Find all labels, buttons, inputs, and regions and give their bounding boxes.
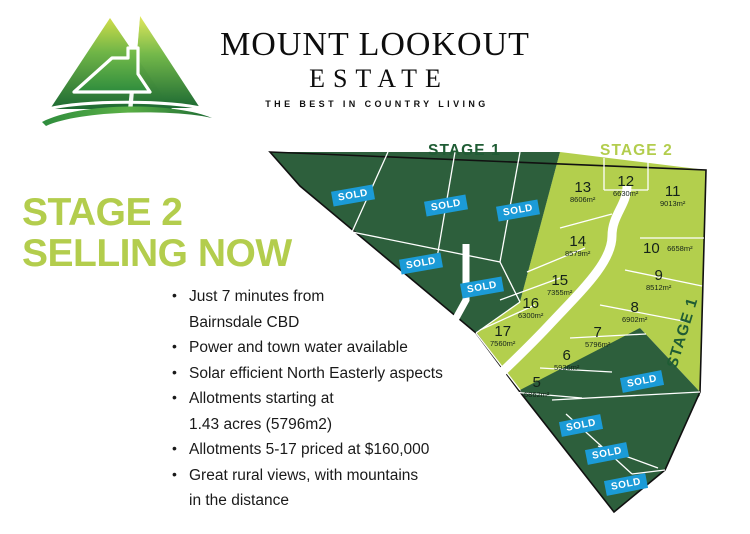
stage-1-side-label: STAGE 1 (664, 295, 703, 370)
stage-1-header: STAGE 1 (428, 142, 501, 160)
lot-number: 8 (622, 300, 647, 315)
lot-number: 16 (518, 296, 543, 311)
lot-area: 8512m² (646, 283, 671, 292)
lot-number: 6 (554, 348, 579, 363)
lot-number: 9 (646, 268, 671, 283)
stage-2-header: STAGE 2 (600, 142, 673, 160)
lot-number: 5 (524, 375, 549, 390)
sold-badge: SOLD (496, 199, 540, 221)
lot-number: 17 (490, 324, 515, 339)
lot-area: 7355m² (547, 288, 572, 297)
lot-6[interactable]: 6 5936m² (554, 348, 579, 372)
lot-area: 6300m² (518, 311, 543, 320)
lot-15[interactable]: 15 7355m² (547, 273, 572, 297)
lot-5[interactable]: 5 6862m² (524, 375, 549, 399)
sold-badge: SOLD (604, 473, 648, 496)
lot-number: 11 (660, 184, 685, 199)
sold-badge: SOLD (620, 370, 664, 393)
sold-badge: SOLD (585, 442, 629, 465)
sold-badge: SOLD (424, 194, 468, 216)
lot-8[interactable]: 8 6902m² (622, 300, 647, 324)
lot-7[interactable]: 7 5796m² (585, 325, 610, 349)
lot-number: 7 (585, 325, 610, 340)
lot-area: 7560m² (490, 339, 515, 348)
lot-number: 13 (570, 180, 595, 195)
lot-number: 10 (643, 241, 660, 256)
lot-13[interactable]: 13 8606m² (570, 180, 595, 204)
lot-area: 6658m² (667, 244, 692, 253)
lot-area: 8579m² (565, 249, 590, 258)
lot-area: 6902m² (622, 315, 647, 324)
lot-area: 5796m² (585, 340, 610, 349)
lot-11[interactable]: 11 9013m² (660, 184, 685, 208)
site-map-graphic (0, 0, 750, 534)
lot-10[interactable]: 10 6658m² (643, 240, 693, 258)
lot-number: 15 (547, 273, 572, 288)
lot-number: 12 (613, 174, 638, 189)
lot-number: 14 (565, 234, 590, 249)
lot-area: 8606m² (570, 195, 595, 204)
lot-12[interactable]: 12 6630m² (613, 174, 638, 198)
lot-area: 9013m² (660, 199, 685, 208)
lot-area: 6630m² (613, 189, 638, 198)
lot-14[interactable]: 14 8579m² (565, 234, 590, 258)
sold-badge: SOLD (559, 414, 603, 437)
lot-17[interactable]: 17 7560m² (490, 324, 515, 348)
sold-badge: SOLD (460, 276, 504, 298)
estate-site-map: STAGE 1 STAGE 2 STAGE 1 13 8606m² 12 663… (0, 0, 750, 534)
lot-16[interactable]: 16 6300m² (518, 296, 543, 320)
lot-9[interactable]: 9 8512m² (646, 268, 671, 292)
sold-badge: SOLD (399, 252, 443, 274)
sold-badge: SOLD (331, 184, 375, 206)
lot-area: 6862m² (524, 390, 549, 399)
lot-area: 5936m² (554, 363, 579, 372)
